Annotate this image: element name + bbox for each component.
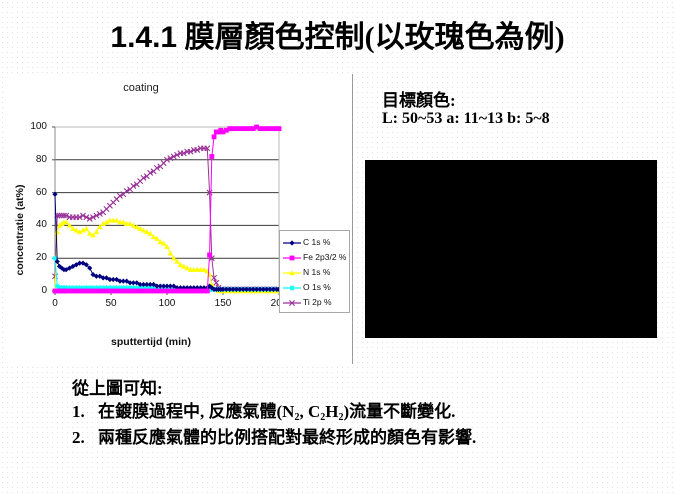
data-marker [214,280,219,285]
chart-plot-area: 020406080100050100150200 [6,74,348,363]
note-number-2: 2. [72,426,98,449]
data-marker [212,134,217,139]
series-c-1s- [52,192,281,292]
y-tick-label: 40 [21,219,47,230]
x-tick-label: 100 [152,298,182,309]
conclusion-notes: 從上圖可知: 1. 在鍍膜過程中, 反應氣體(N2, C2H2)流量不斷變化. … [72,378,652,449]
note-1-pre: 在鍍膜過程中, 反應氣體(N [98,402,294,421]
data-marker [277,126,282,131]
note-1-mid2: H [325,402,338,421]
data-marker [168,250,174,255]
note-text-2: 兩種反應氣體的比例搭配對最終形成的顏色有影響. [98,426,476,449]
data-marker [289,285,294,290]
legend-item: C 1s % [282,234,347,249]
series-line [55,194,279,289]
data-marker [289,240,294,245]
legend-marker-icon [283,296,301,308]
title-text: 膜層顏色控制(以玫瑰色為例) [185,21,565,54]
panel-divider [352,74,353,364]
y-tick-label: 60 [21,187,47,198]
legend-label: Fe 2p3/2 % [301,252,346,262]
chart-svg [6,74,348,363]
data-marker [207,253,212,258]
legend-item: Fe 2p3/2 % [282,249,347,264]
legend-label: O 1s % [301,282,331,292]
notes-heading: 從上圖可知: [72,378,652,400]
legend-item: N 1s % [282,264,347,279]
data-marker [205,289,210,294]
y-tick-label: 80 [21,154,47,165]
legend-item: Ti 2p % [282,294,347,309]
note-1-sub1: 2 [294,412,299,423]
y-tick-label: 0 [21,285,47,296]
x-tick-label: 150 [208,298,238,309]
note-1-sub3: 2 [338,412,343,423]
note-item-2: 2. 兩種反應氣體的比例搭配對最終形成的顏色有影響. [72,426,652,449]
legend-label: N 1s % [301,267,330,277]
rose-color-sample-image [365,160,657,338]
chart-panel: coating concentratie (at%) sputtertijd (… [6,74,348,363]
note-item-1: 1. 在鍍膜過程中, 反應氣體(N2, C2H2)流量不斷變化. [72,400,652,426]
y-tick-label: 20 [21,252,47,263]
note-1-mid: , C [299,402,320,421]
target-color-values: L: 50~53 a: 11~13 b: 5~8 [382,110,550,128]
series-ti-2p- [52,146,281,292]
data-marker [84,226,90,231]
legend-item: O 1s % [282,279,347,294]
legend-marker-icon [283,236,301,248]
legend-marker-icon [283,266,301,278]
title-number: 1.4.1 [110,21,177,54]
chart-legend: C 1s %Fe 2p3/2 %N 1s %O 1s %Ti 2p % [279,230,350,313]
series-line [55,220,279,291]
series-fe-2p3-2- [53,125,282,294]
x-tick-label: 0 [40,298,70,309]
note-number-1: 1. [72,400,98,423]
target-color-label: 目標顏色: [382,86,456,111]
legend-marker-icon [283,251,301,263]
data-marker [290,255,295,260]
y-tick-label: 100 [21,121,47,132]
legend-marker-icon [283,281,301,293]
note-1-post: )流量不斷變化. [343,402,455,421]
series-n-1s- [52,218,282,294]
data-marker [209,154,214,159]
legend-label: C 1s % [301,237,330,247]
page-title: 1.4.1 膜層顏色控制(以玫瑰色為例) [0,12,675,56]
note-1-sub2: 2 [320,412,325,423]
slide-canvas: 1.4.1 膜層顏色控制(以玫瑰色為例) coating concentrati… [0,0,675,494]
legend-label: Ti 2p % [301,297,332,307]
x-tick-label: 50 [96,298,126,309]
note-text-1: 在鍍膜過程中, 反應氣體(N2, C2H2)流量不斷變化. [98,400,455,426]
